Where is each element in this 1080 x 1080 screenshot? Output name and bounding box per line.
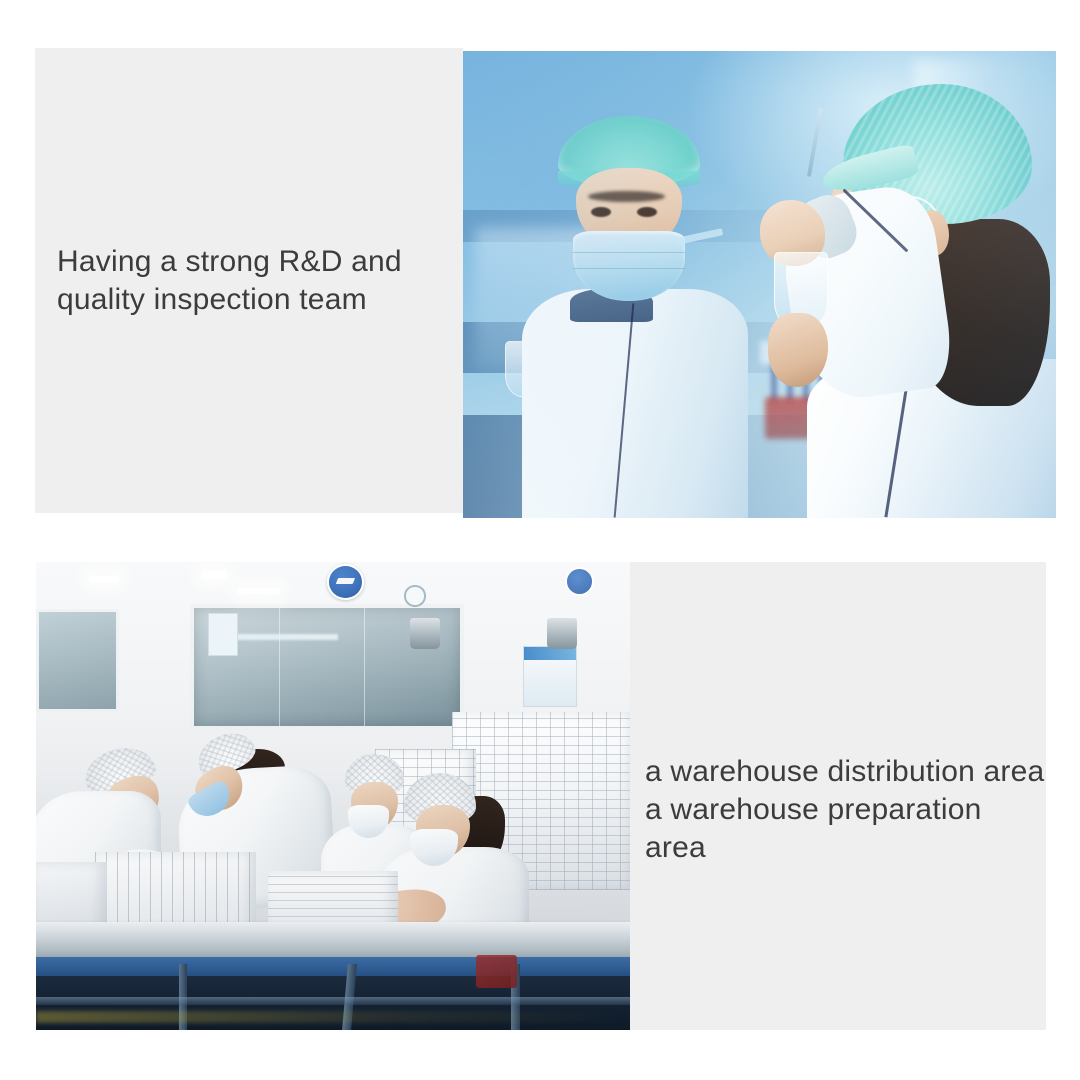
ceiling-light — [202, 571, 226, 578]
blue-wall-sign-icon — [327, 564, 364, 600]
side-window — [36, 609, 119, 712]
worker-left-coat — [522, 289, 747, 518]
photo-lab-quality-inspection — [463, 51, 1056, 518]
steel-worktable-top — [36, 922, 630, 959]
window-mullion — [364, 608, 365, 726]
caption-warehouse-areas: a warehouse distribution area a warehous… — [645, 753, 1045, 866]
wall-notice-board — [523, 646, 576, 707]
mask-pleat — [573, 252, 686, 253]
red-floor-object — [476, 955, 518, 988]
wall-notice-board — [208, 613, 238, 655]
wall-clock-icon — [404, 585, 425, 607]
caption-rnd-quality: Having a strong R&D and quality inspecti… — [57, 243, 457, 319]
photo-warehouse-packaging — [36, 562, 630, 1030]
blue-wall-sign-icon — [565, 567, 595, 596]
stainless-container — [547, 618, 577, 648]
mask-pleat — [573, 268, 686, 269]
window-mullion — [279, 608, 280, 726]
product-detail-page: Having a strong R&D and quality inspecti… — [0, 0, 1080, 1080]
stainless-container — [410, 618, 440, 648]
floor-marking — [36, 1011, 630, 1023]
ceiling-light — [89, 576, 119, 583]
pipette — [807, 107, 823, 177]
ceiling-light — [238, 588, 280, 595]
worktable-lower-shelf — [36, 997, 630, 1004]
